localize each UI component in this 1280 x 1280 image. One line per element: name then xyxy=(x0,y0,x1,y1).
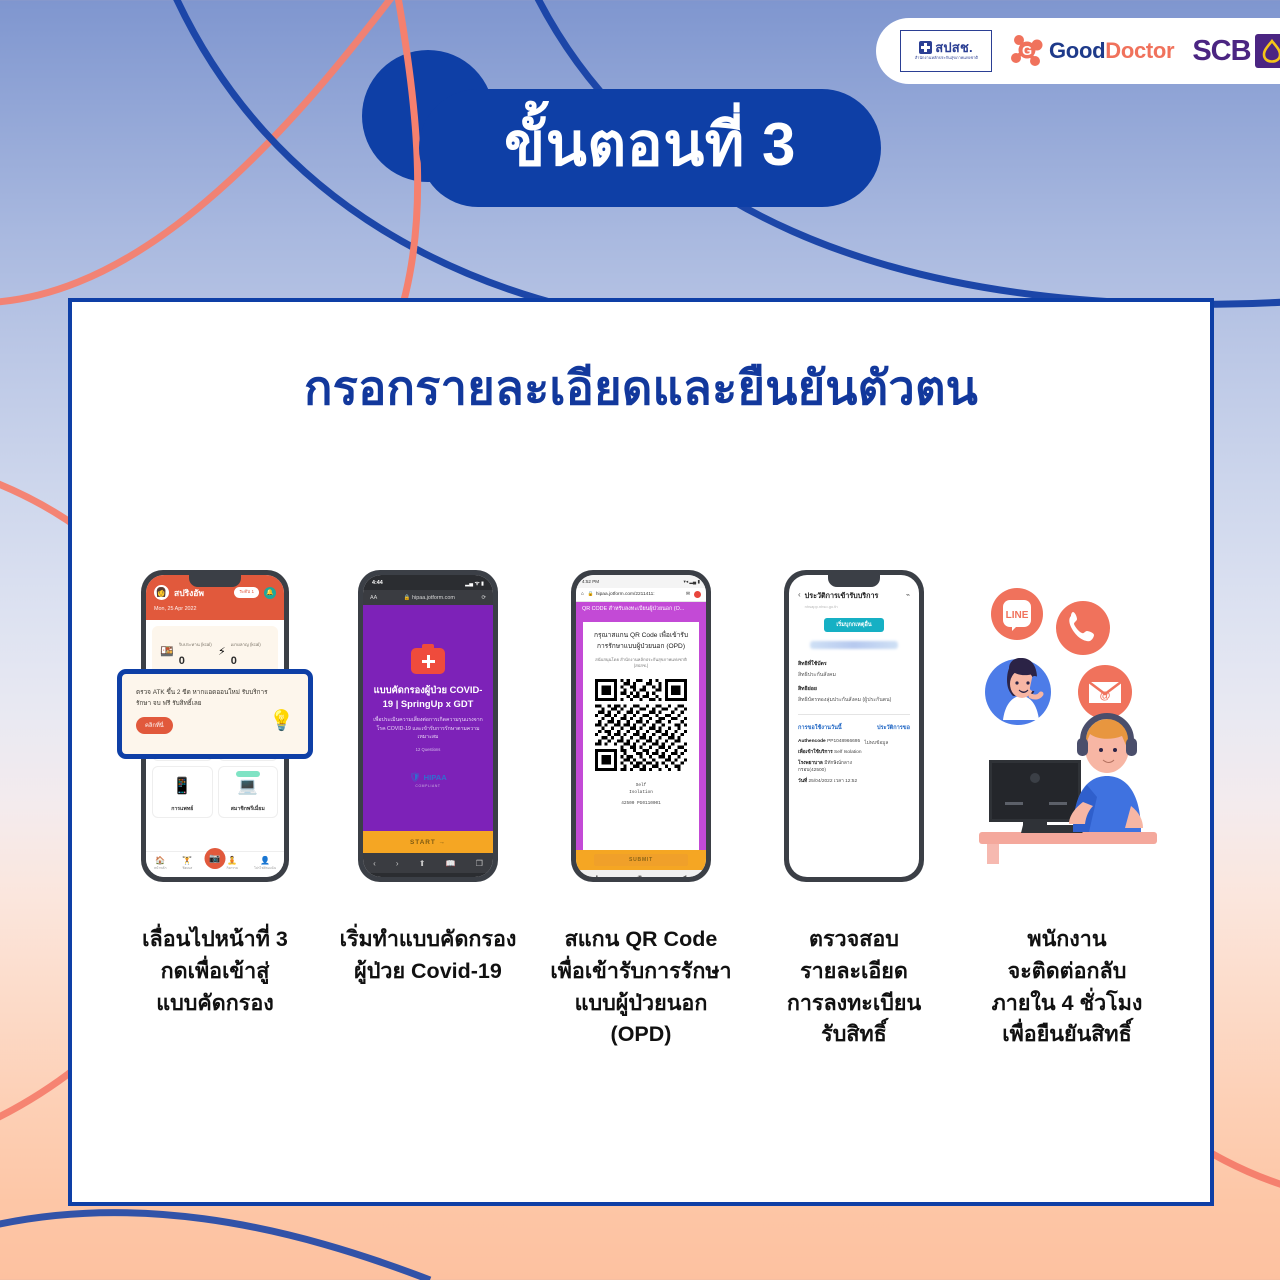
good-doctor-mark-icon: G xyxy=(1010,34,1044,68)
stat-intake-value: 0 xyxy=(179,655,185,667)
bell-icon[interactable]: 🔔 xyxy=(264,587,276,599)
tabs-icon[interactable]: ❐ xyxy=(476,859,483,868)
browser-url-bar[interactable]: ⌂ 🔒 hipaa.jotform.com/2211411: ✉ xyxy=(576,588,706,602)
stat-burn-label: เผาผลาญ (kcal) xyxy=(231,642,261,647)
detail-row-service: เพื่อเข้าใช้บริการ Self Isolation xyxy=(798,750,864,757)
no-data-note: ไม่พบข้อมูล xyxy=(864,739,910,747)
status-time: 4:44 xyxy=(372,580,383,586)
share-icon[interactable]: ⌁ xyxy=(906,591,910,599)
email-badge: @ xyxy=(1078,665,1132,719)
step-5-caption: พนักงาน จะติดต่อกลับ ภายใน 4 ชั่วโมง เพื… xyxy=(992,924,1143,1051)
stat-intake: 🍱 รับประทาน (kcal) 0 xyxy=(160,633,212,669)
submit-bar: SUBMIT xyxy=(576,850,706,870)
monitor xyxy=(989,760,1081,832)
scb-leaf-icon xyxy=(1255,34,1280,68)
good-doctor-doctor-text: Doctor xyxy=(1105,38,1174,63)
start-button[interactable]: START → xyxy=(363,831,493,853)
status-time: 4:52 PM xyxy=(582,579,599,584)
main-card: กรอกรายละเอียดและยืนยันตัวตน 👩 สปริงอัพ … xyxy=(68,298,1214,1206)
step-4-visual: ‹ ประวัติการเข้ารับบริการ nhsapp.nhso.go… xyxy=(784,570,924,892)
phone-notch xyxy=(189,575,241,587)
nav-fitness-label: ฟิตเนส xyxy=(182,866,192,871)
detail-row-authencode: Authencode PP1048966695 xyxy=(798,739,864,746)
bookmarks-icon[interactable]: 📖 xyxy=(446,859,456,868)
form-description: เพื่อประเมินความเสี่ยงต่อการเกิดความรุนแ… xyxy=(373,716,483,742)
current-date: Mon, 25 Apr 2022 xyxy=(154,606,276,612)
nhso-logo: สปสช. สำนักงานหลักประกันสุขภาพแห่งชาติ xyxy=(900,30,992,72)
detail-key-hospital: โรงพยาบาล xyxy=(798,761,823,766)
step-3-caption: สแกน QR Code เพื่อเข้ารับการรักษา แบบผู้… xyxy=(550,924,731,1051)
step-1-visual: 👩 สปริงอัพ ระดับ 1 🔔 Mon, 25 Apr 2022 🍱 xyxy=(141,570,289,892)
step-5-visual: LINE @ xyxy=(965,570,1170,892)
page-title: กรอกรายละเอียดและยืนยันตัวตน xyxy=(72,350,1210,425)
reload-icon[interactable]: ⟳ xyxy=(481,595,486,601)
tile-premium[interactable]: 💻 สมาชิกพรีเมี่ยม xyxy=(218,766,279,818)
qr-caption: Self Isolation xyxy=(590,783,692,796)
stat-intake-label: รับประทาน (kcal) xyxy=(179,642,212,647)
nhso-cross-icon xyxy=(919,41,932,54)
detail-key-authencode: Authencode xyxy=(798,739,826,744)
square-icon[interactable]: ▪ xyxy=(596,874,598,877)
step-badge: ขั้นตอนที่ 3 xyxy=(419,89,881,207)
detail-key-service: เพื่อเข้าใช้บริการ xyxy=(798,750,833,755)
detail-key-date: วันที่ xyxy=(798,779,807,784)
detail-row-hospital: โรงพยาบาล มีทักษิณ์กลางกรอบ(42500) xyxy=(798,761,864,775)
phone-mockup-qr-code: 4:52 PM ▾◂ ▂▄ ▮ ⌂ 🔒 hipaa.jotform.com/22… xyxy=(571,570,711,882)
divider xyxy=(798,714,910,715)
tile-premium-title: สมาชิกพรีเมี่ยม xyxy=(231,805,265,813)
avatar: 👩 xyxy=(154,585,169,600)
qr-heading: กรุณาสแกน QR Code เพื่อเข้ารับการรักษาแบ… xyxy=(590,631,692,653)
detail-value-service: Self Isolation xyxy=(834,750,861,755)
status-bar: 4:44 ▂▄ ᯤ ▮ xyxy=(363,575,493,590)
primary-action-button[interactable]: เริ่มบุกกเหตุอื่น xyxy=(824,618,884,632)
qr-page-body: กรุณาสแกน QR Code เพื่อเข้ารับการรักษาแบ… xyxy=(576,616,706,850)
steps-row: 👩 สปริงอัพ ระดับ 1 🔔 Mon, 25 Apr 2022 🍱 xyxy=(72,570,1210,1051)
chevron-left-icon[interactable]: ‹ xyxy=(798,591,801,599)
submit-button[interactable]: SUBMIT xyxy=(594,854,688,866)
android-nav-bar: ▪ ◉ ◀ xyxy=(576,870,706,877)
entitlement-1-key: สิทธิย่อย xyxy=(798,685,910,693)
form-intro: แบบคัดกรองผู้ป่วย COVID-19 | SpringUp x … xyxy=(363,605,493,831)
good-doctor-logo: G GoodDoctor xyxy=(1010,34,1174,68)
step-3: 4:52 PM ▾◂ ▂▄ ▮ ⌂ 🔒 hipaa.jotform.com/22… xyxy=(535,570,748,1051)
step-1: 👩 สปริงอัพ ระดับ 1 🔔 Mon, 25 Apr 2022 🍱 xyxy=(109,570,322,1019)
step-4-caption: ตรวจสอบ รายละเอียด การลงทะเบียน รับสิทธิ… xyxy=(787,924,921,1051)
tab-today-request[interactable]: การขอใช้งานวันนี้ xyxy=(798,724,842,732)
phone-mockup-jotform-intro: 4:44 ▂▄ ᯤ ▮ AA 🔒 hipaa.jotform.com ⟳ xyxy=(358,570,498,882)
nav-profile[interactable]: 👤 โปรไฟล์ของฉัน xyxy=(254,856,276,871)
line-badge: LINE xyxy=(991,588,1043,640)
tab-request-history[interactable]: ประวัติการขอ xyxy=(877,724,910,732)
status-bar: 4:52 PM ▾◂ ▂▄ ▮ xyxy=(576,575,706,588)
lightbulb-icon: 💡 xyxy=(269,708,294,733)
burn-icon: ⚡ xyxy=(218,645,226,658)
nav-activity[interactable]: 🧘 กิจกรรม xyxy=(226,856,238,871)
camera-icon[interactable]: 📷 xyxy=(205,848,226,869)
qr-code-image xyxy=(595,679,687,771)
lock-icon: 🔒 xyxy=(588,592,594,597)
home-icon: 🏠 xyxy=(155,856,165,865)
entitlement-1-value: สิทธิบัตรทองลุ่มประกันสังคม (ผู้ประกันตน… xyxy=(798,696,910,704)
browser-toolbar: ‹ › ⬆ 📖 ❐ xyxy=(363,853,493,873)
entitlement-0-value: สิทธิประกันสังคม xyxy=(798,671,910,679)
history-subtitle: nhsapp.nhso.go.th xyxy=(805,604,902,609)
share-icon[interactable]: ⬆ xyxy=(419,859,426,868)
back-icon[interactable]: ‹ xyxy=(373,859,376,868)
url-text: hipaa.jotform.com xyxy=(412,595,455,601)
phone-mockup-springup-app: 👩 สปริงอัพ ระดับ 1 🔔 Mon, 25 Apr 2022 🍱 xyxy=(141,570,289,882)
hipaa-subtitle: COMPLIANT xyxy=(415,784,440,788)
browser-url-bar[interactable]: AA 🔒 hipaa.jotform.com ⟳ xyxy=(363,590,493,605)
blurred-name-field xyxy=(810,641,898,649)
nav-fitness[interactable]: 🏋 ฟิตเนส xyxy=(182,856,192,871)
message-icon[interactable]: ✉ xyxy=(686,592,690,597)
scb-text: SCB xyxy=(1192,35,1250,68)
nav-profile-label: โปรไฟล์ของฉัน xyxy=(254,866,276,871)
detail-row-date: วันที่ 25/04/2022 เวลา 12:52 xyxy=(798,779,864,786)
nav-home-label: หน้าหลัก xyxy=(154,866,166,871)
hipaa-badge: 🛡 HIPAA COMPLIANT xyxy=(409,772,447,788)
app-name: สปริงอัพ xyxy=(174,586,229,600)
detail-value-date: 25/04/2022 เวลา 12:52 xyxy=(808,779,857,784)
home-indicator xyxy=(363,873,493,877)
hipaa-title: HIPAA xyxy=(424,773,447,782)
svg-text:@: @ xyxy=(1099,690,1110,702)
step-4: ‹ ประวัติการเข้ารับบริการ nhsapp.nhso.go… xyxy=(748,570,961,1051)
forward-icon[interactable]: › xyxy=(396,859,399,868)
qr-subheading: สนับสนุนโดย สำนักงานหลักประกันสุขภาพแห่ง… xyxy=(590,657,692,670)
history-title: ประวัติการเข้ารับบริการ xyxy=(805,591,902,602)
promo-callout-text: ตรวจ ATK ขึ้น 2 ขีด หากแอดออนใหม่ รับบริ… xyxy=(136,688,276,710)
promo-callout-button[interactable]: คลิกที่นี่ xyxy=(136,717,173,734)
svg-text:LINE: LINE xyxy=(1005,610,1028,621)
stat-burn-value: 0 xyxy=(231,655,237,667)
svg-text:G: G xyxy=(1022,43,1032,58)
promo-callout[interactable]: ตรวจ ATK ขึ้น 2 ขีด หากแอดออนใหม่ รับบริ… xyxy=(117,669,313,759)
nav-home[interactable]: 🏠 หน้าหลัก xyxy=(154,856,166,871)
good-doctor-good-text: Good xyxy=(1049,38,1105,63)
step-1-caption: เลื่อนไปหน้าที่ 3 กดเพื่อเข้าสู่ แบบคัดก… xyxy=(142,924,288,1019)
new-tag xyxy=(236,771,260,777)
partner-logo-bar: สปสช. สำนักงานหลักประกันสุขภาพแห่งชาติ G… xyxy=(876,18,1280,84)
form-title: แบบคัดกรองผู้ป่วย COVID-19 | SpringUp x … xyxy=(373,683,483,711)
level-chip: ระดับ 1 xyxy=(234,587,259,598)
tile-telemed-title: การแพทย์ xyxy=(171,805,193,813)
activity-icon: 🧘 xyxy=(227,856,237,865)
telemed-icon: 📱 xyxy=(153,767,212,805)
nhso-subtitle: สำนักงานหลักประกันสุขภาพแห่งชาติ xyxy=(914,56,977,60)
signal-wifi-battery-icon: ▾◂ ▂▄ ▮ xyxy=(684,579,700,585)
step-5: LINE @ xyxy=(961,570,1174,1051)
entitlement-0-key: สิทธิที่ใช้บัตร xyxy=(798,660,910,668)
step-3-visual: 4:52 PM ▾◂ ▂▄ ▮ ⌂ 🔒 hipaa.jotform.com/22… xyxy=(571,570,711,892)
entitlement-list: สิทธิที่ใช้บัตร สิทธิประกันสังคม สิทธิย่… xyxy=(798,660,910,704)
nav-activity-label: กิจกรรม xyxy=(226,866,238,871)
signal-wifi-battery-icon: ▂▄ ᯤ ▮ xyxy=(465,579,484,587)
step-2: 4:44 ▂▄ ᯤ ▮ AA 🔒 hipaa.jotform.com ⟳ xyxy=(322,570,535,988)
phone-mockup-service-history: ‹ ประวัติการเข้ารับบริการ nhsapp.nhso.go… xyxy=(784,570,924,882)
person-icon: 👤 xyxy=(260,856,270,865)
nhso-name: สปสช. xyxy=(935,41,973,54)
phone-notch xyxy=(828,575,880,587)
medical-kit-icon xyxy=(411,648,445,674)
woman-on-phone-avatar xyxy=(985,658,1051,725)
text-size-button[interactable]: AA xyxy=(370,595,377,601)
intake-icon: 🍱 xyxy=(160,645,174,658)
call-center-agent-illustration: LINE @ xyxy=(965,570,1170,882)
close-icon[interactable] xyxy=(694,591,701,598)
shield-icon: 🛡 xyxy=(409,772,420,783)
dumbbell-icon: 🏋 xyxy=(182,856,192,865)
page-title-bar: QR CODE สำหรับลงทะเบียนผู้ป่วยนอก (O... xyxy=(576,602,706,616)
history-tabs: การขอใช้งานวันนี้ ประวัติการขอ xyxy=(798,724,910,732)
phone-badge xyxy=(1056,601,1110,655)
step-2-visual: 4:44 ▂▄ ᯤ ▮ AA 🔒 hipaa.jotform.com ⟳ xyxy=(358,570,498,892)
step-2-caption: เริ่มทำแบบคัดกรอง ผู้ป่วย Covid-19 xyxy=(340,924,517,988)
triangle-back-icon[interactable]: ◀ xyxy=(682,874,687,878)
qr-code-text: 42500 PG0110001 xyxy=(590,801,692,806)
url-text: hipaa.jotform.com/2211411: xyxy=(596,592,655,597)
step-badge-label: ขั้นตอนที่ 3 xyxy=(504,115,796,181)
form-question-count: 12 Questions xyxy=(416,747,441,752)
scb-logo: SCB xyxy=(1192,34,1280,68)
tile-telemed[interactable]: 📱 การแพทย์ xyxy=(152,766,213,818)
lock-icon: 🔒 xyxy=(404,595,411,601)
home-icon[interactable]: ⌂ xyxy=(581,592,584,597)
detail-value-authencode: PP1048966695 xyxy=(827,739,860,744)
circle-icon[interactable]: ◉ xyxy=(637,874,642,878)
stat-burn: ⚡ เผาผลาญ (kcal) 0 xyxy=(218,633,270,669)
